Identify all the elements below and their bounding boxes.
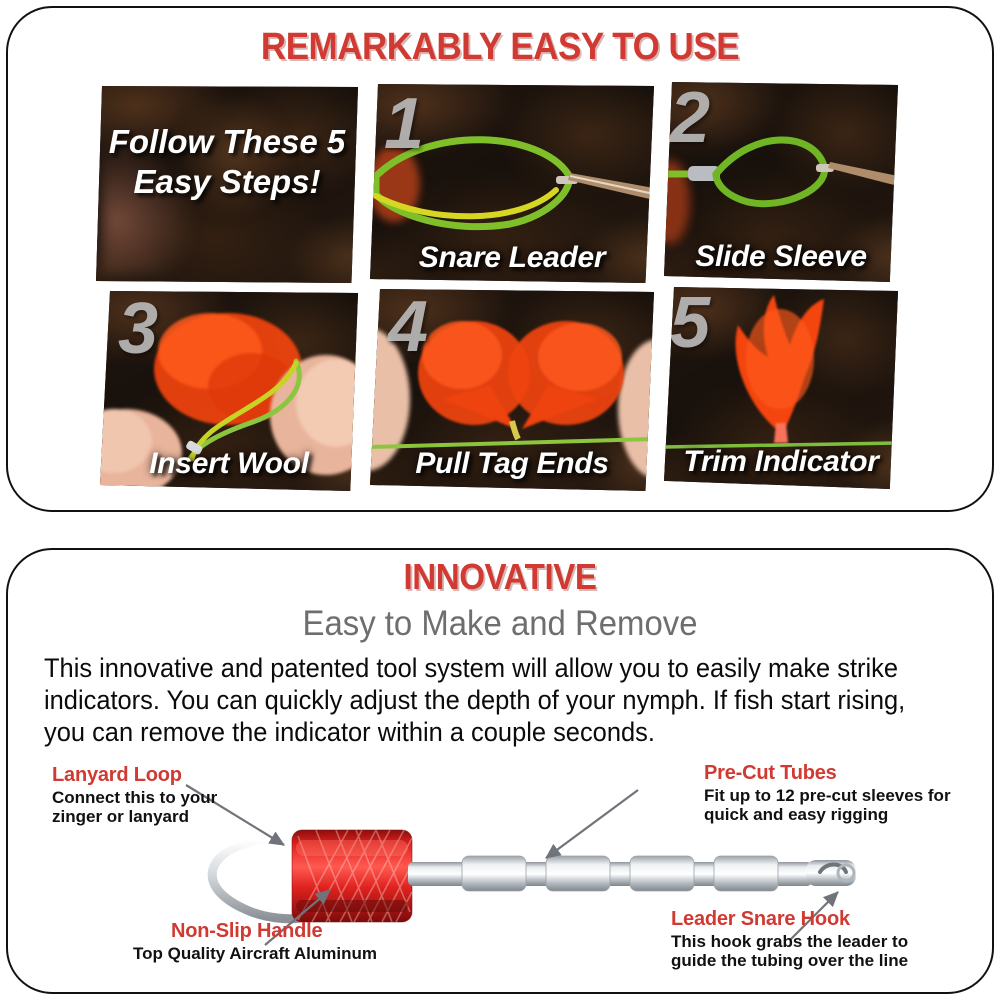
annotation-title-pre-cut-tubes: Pre-Cut Tubes — [704, 762, 837, 785]
annotation-desc-leader-snare-hook: This hook grabs the leader to guide the … — [671, 932, 908, 970]
innovative-title: INNOVATIVE — [40, 556, 960, 598]
annotation-desc-non-slip-handle: Top Quality Aircraft Aluminum — [133, 944, 377, 963]
annotation-desc-lanyard-loop: Connect this to your zinger or lanyard — [52, 788, 217, 826]
annotation-title-non-slip-handle: Non-Slip Handle — [171, 920, 322, 943]
annotation-title-leader-snare-hook: Leader Snare Hook — [671, 908, 850, 931]
product-diagram: Lanyard Loop Connect this to your zinger… — [0, 740, 1000, 1000]
annotation-title-lanyard-loop: Lanyard Loop — [52, 764, 182, 787]
innovative-subtitle: Easy to Make and Remove — [30, 604, 970, 644]
easy-to-use-card — [6, 6, 994, 512]
body-paragraph: This innovative and patented tool system… — [44, 652, 920, 748]
annotation-desc-pre-cut-tubes: Fit up to 12 pre-cut sleeves for quick a… — [704, 786, 951, 824]
arrow-pre-cut-tubes — [546, 790, 638, 858]
page-title: REMARKABLY EASY TO USE — [40, 26, 960, 69]
